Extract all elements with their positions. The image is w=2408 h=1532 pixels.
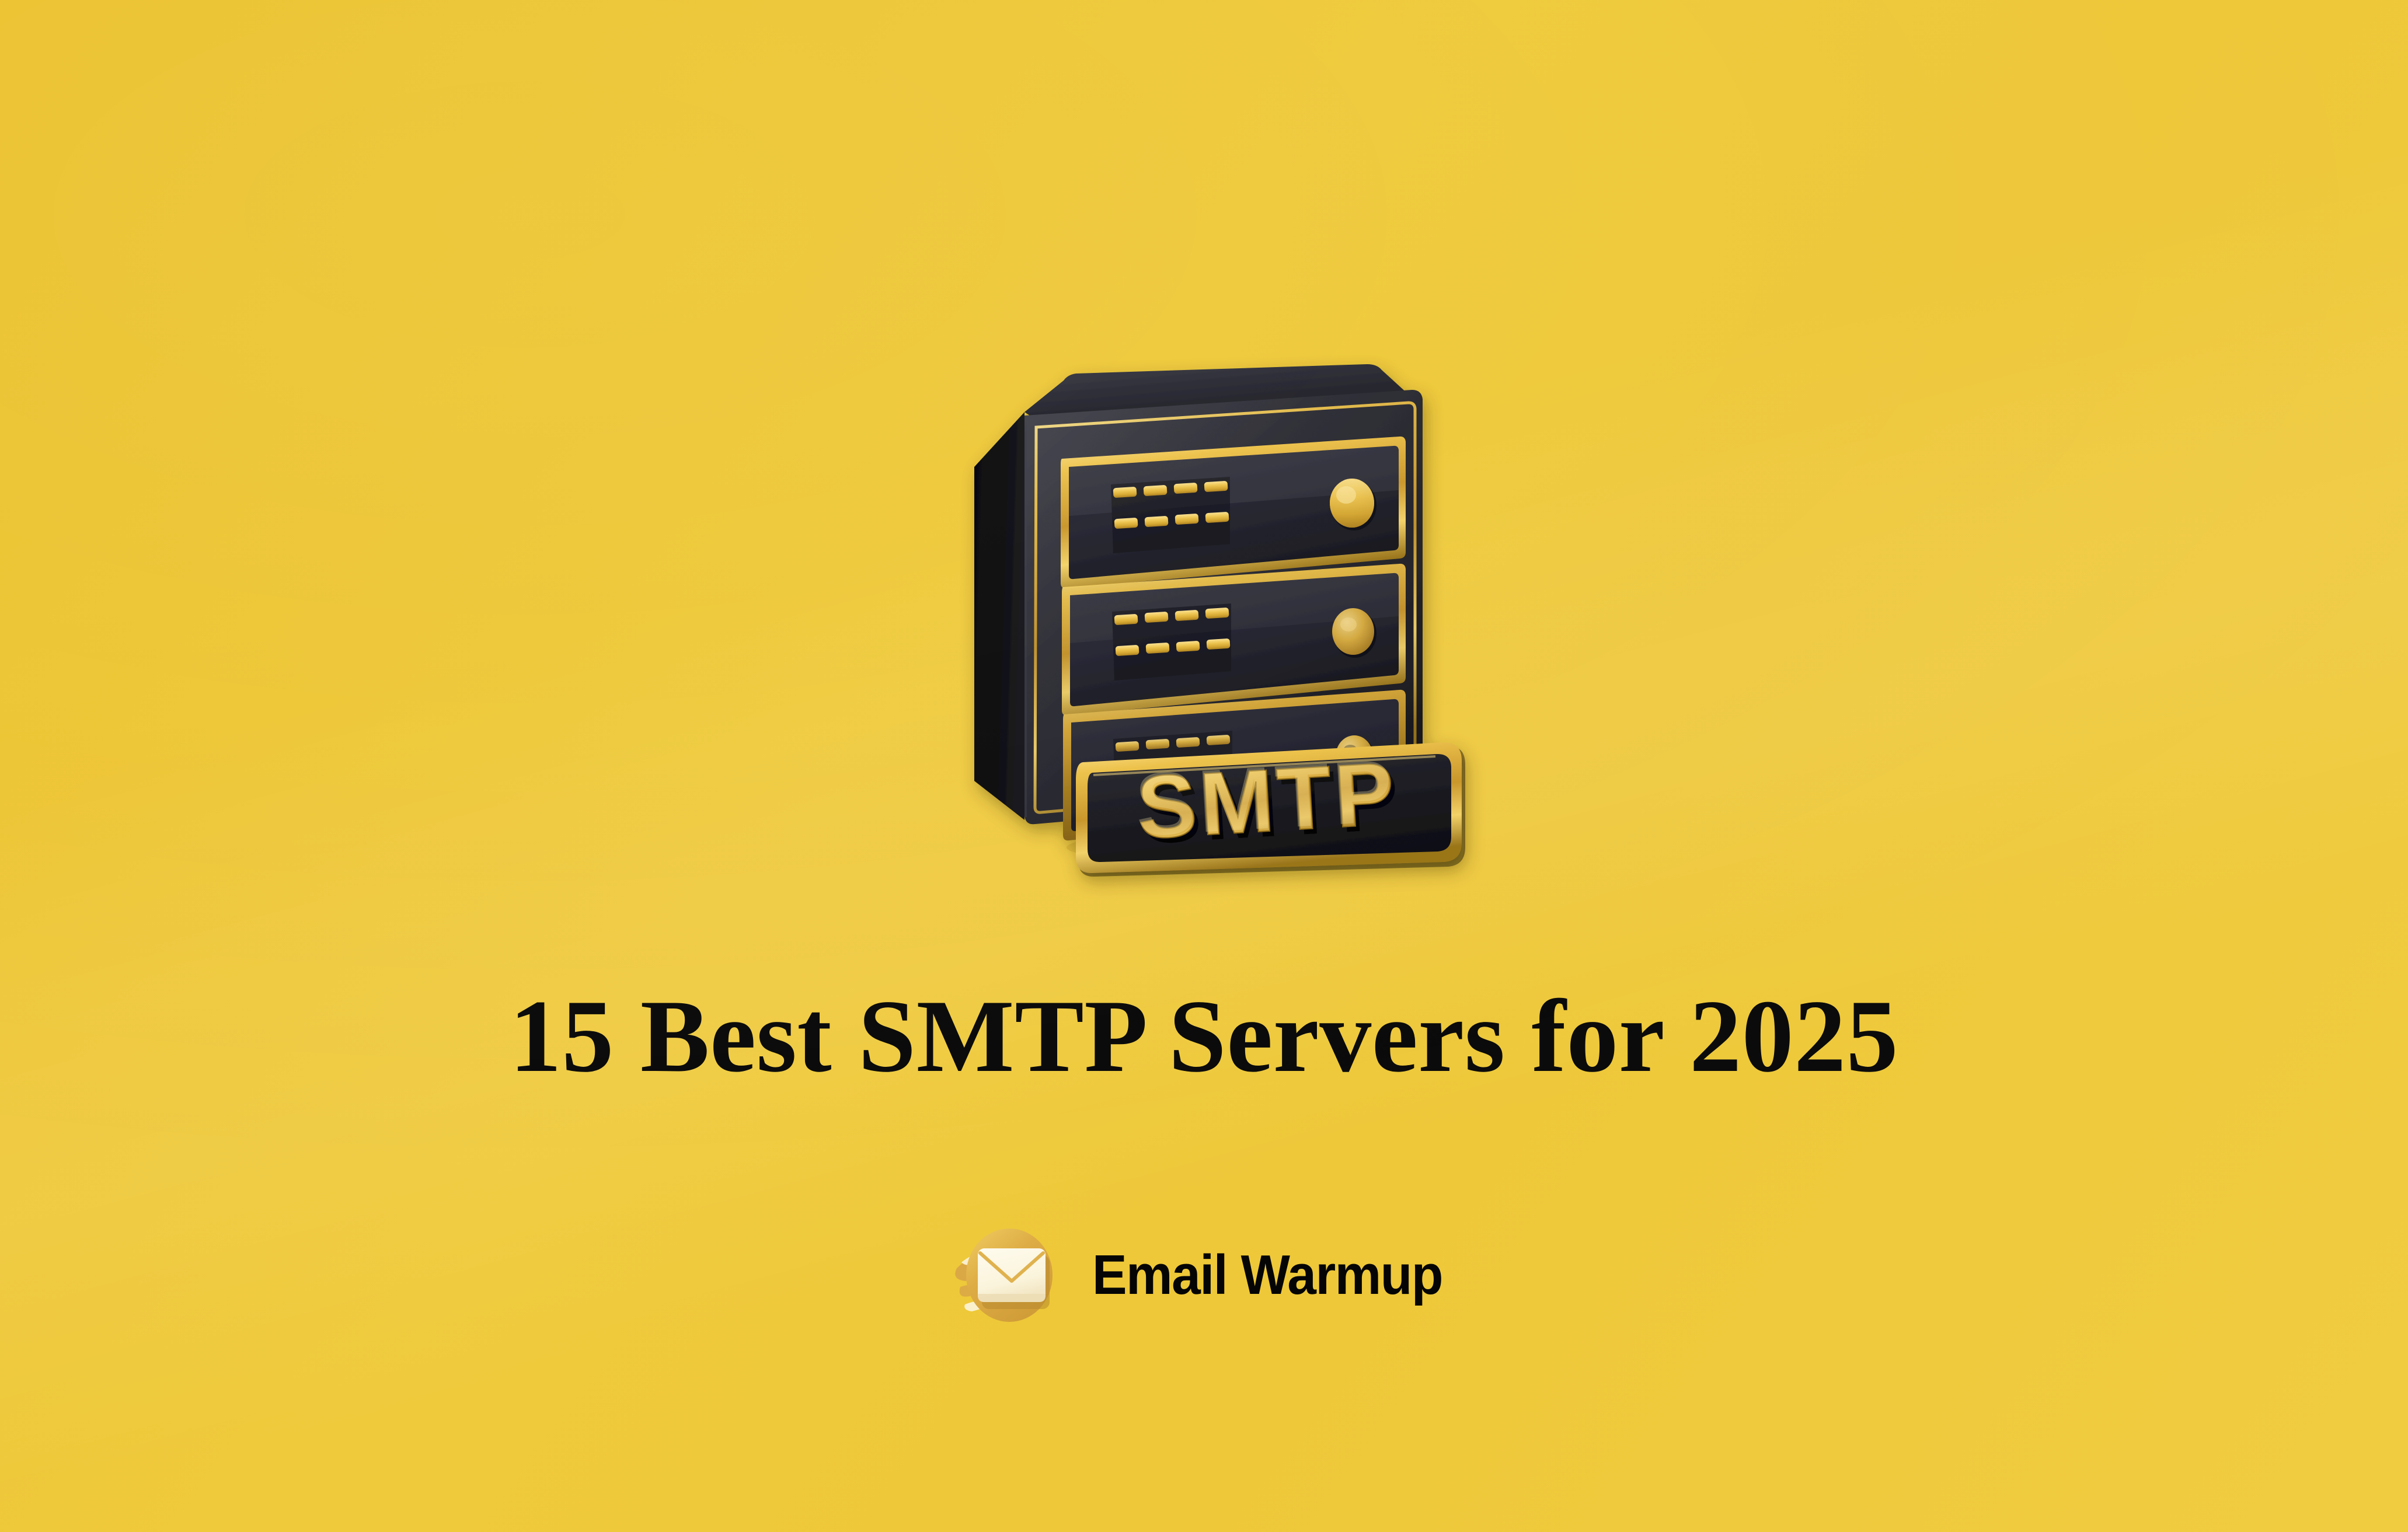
hero-canvas: SMTP SMTP SMTP 15 Best SMTP Servers for … bbox=[0, 0, 2408, 1532]
svg-text:SMTP: SMTP bbox=[1132, 741, 1398, 855]
brand-name: Email Warmup bbox=[1092, 1247, 1442, 1303]
brand-logo: Email Warmup bbox=[0, 1217, 2408, 1334]
flying-envelope-icon bbox=[939, 1217, 1079, 1334]
page-title: 15 Best SMTP Servers for 2025 bbox=[0, 980, 2408, 1092]
smtp-server-illustration: SMTP SMTP SMTP bbox=[938, 292, 1463, 864]
